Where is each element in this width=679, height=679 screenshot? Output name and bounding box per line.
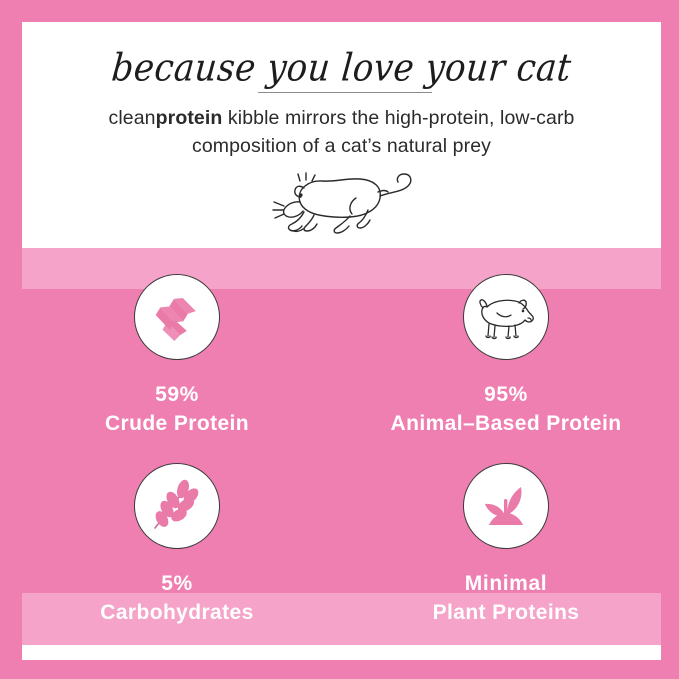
badge-plant-proteins	[463, 463, 549, 549]
frame-border-top	[0, 0, 679, 22]
subheading: cleanprotein kibble mirrors the high-pro…	[62, 104, 621, 160]
subheading-rest: kibble mirrors the high-protein, low-car…	[192, 107, 575, 157]
wheat-icon	[149, 478, 205, 534]
stat-value: Minimal	[356, 571, 656, 597]
stat-label: Plant Proteins	[356, 600, 656, 626]
pig-icon	[475, 293, 537, 341]
running-mouse-icon	[270, 162, 420, 240]
header-panel: because you love your cat cleanprotein k…	[22, 22, 661, 248]
stat-animal-based-protein: 95% Animal–Based Protein	[356, 274, 656, 437]
badge-carbohydrates	[134, 463, 220, 549]
stat-carbohydrates: 5% Carbohydrates	[27, 463, 327, 626]
frame-border-left	[0, 0, 22, 679]
subheading-lead: clean	[109, 107, 156, 129]
stat-label: Crude Protein	[27, 411, 327, 437]
product-infographic: because you love your cat cleanprotein k…	[0, 0, 679, 679]
stat-plant-proteins: Minimal Plant Proteins	[356, 463, 656, 626]
stat-value: 59%	[27, 382, 327, 408]
page-title: because you love your cat	[22, 46, 661, 91]
stat-value: 95%	[356, 382, 656, 408]
poster-canvas: because you love your cat cleanprotein k…	[22, 22, 661, 660]
frame-border-bottom	[0, 660, 679, 679]
stat-label: Carbohydrates	[27, 600, 327, 626]
badge-crude-protein	[134, 274, 220, 360]
frame-border-right	[661, 0, 679, 679]
stat-value: 5%	[27, 571, 327, 597]
seedling-icon	[479, 481, 533, 531]
badge-animal-based-protein	[463, 274, 549, 360]
protein-helix-icon	[150, 290, 204, 344]
stat-label: Animal–Based Protein	[356, 411, 656, 437]
bottom-white-strip	[22, 645, 661, 660]
subheading-emphasis: protein	[156, 107, 223, 129]
title-divider	[258, 92, 432, 93]
stat-crude-protein: 59% Crude Protein	[27, 274, 327, 437]
